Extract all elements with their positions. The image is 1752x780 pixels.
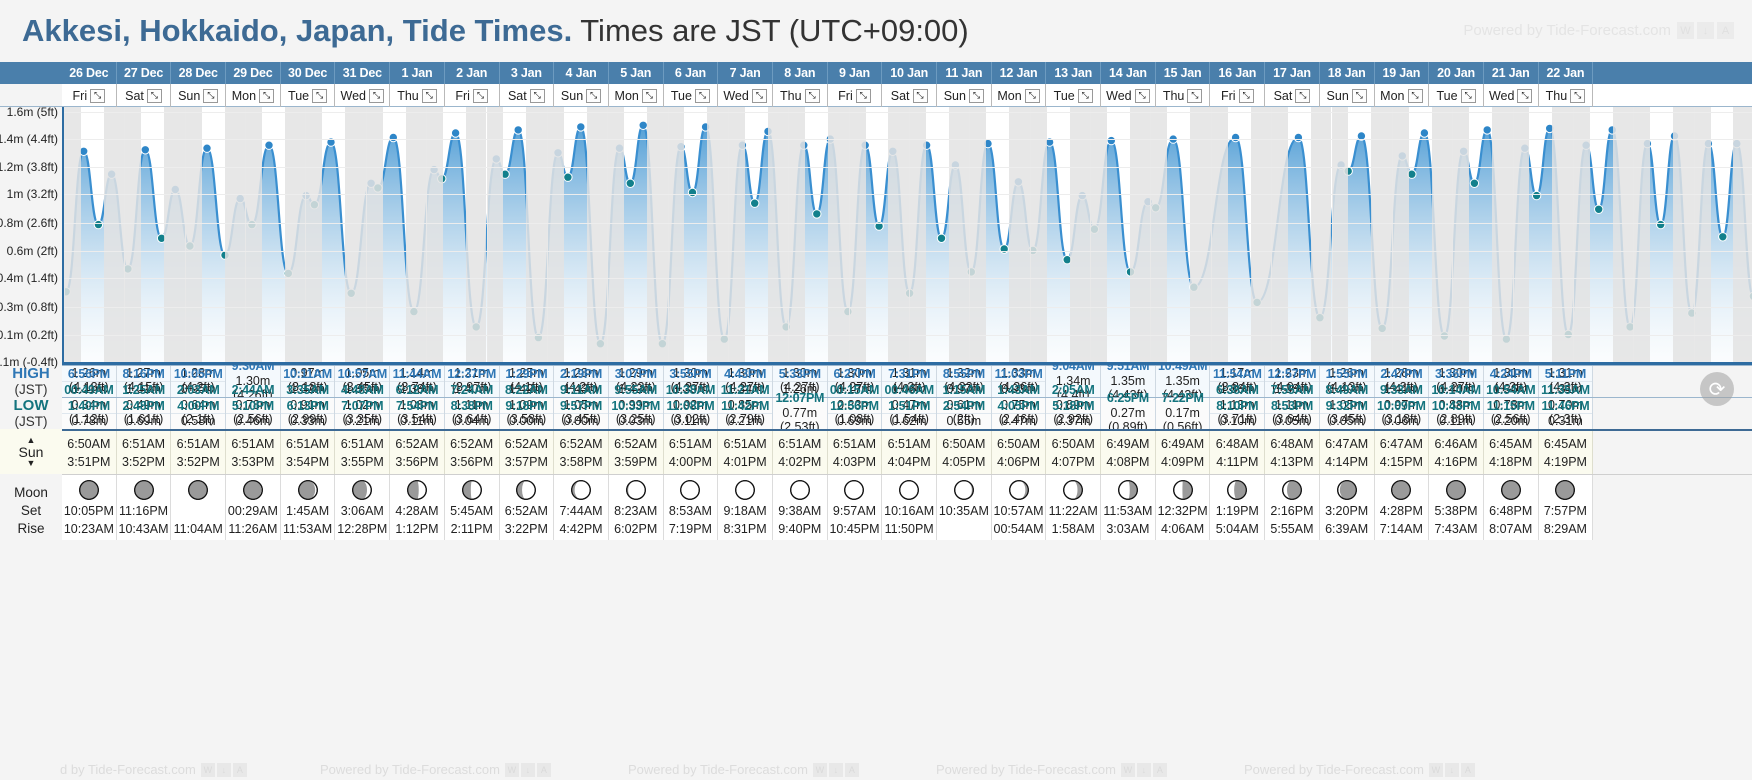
footer-badges: W↓A — [1121, 763, 1167, 777]
expand-day-icon[interactable]: ⤡ — [369, 89, 384, 103]
sun-row: ▲ Sun ▼ 6:50AM3:51PM6:51AM3:52PM6:51AM3:… — [0, 429, 1752, 474]
y-axis-tick-label: 0.8m (2.6ft) — [0, 216, 58, 230]
moonrise-time: 7:19PM — [664, 520, 718, 538]
date-header-cell: 6 Jan — [664, 62, 719, 84]
moon-phase-icon — [1484, 478, 1538, 502]
night-shading — [1673, 107, 1694, 362]
tide-height-m: 0.78m — [62, 414, 116, 429]
low-tide-cell: 7:24AM1.11m(3.64ft)8:38PM0.04m(0.13ft) — [445, 398, 500, 429]
date-header-cell: 1 Jan — [390, 62, 445, 84]
high-tide-point[interactable] — [1294, 133, 1302, 141]
footer-badges: W↓A — [1429, 763, 1475, 777]
tide-chart: 1.6m (5ft)1.4m (4.4ft)1.2m (3.8ft)1m (3.… — [0, 107, 1752, 365]
low-tide-point[interactable] — [813, 210, 821, 218]
high-tide-point[interactable] — [1107, 136, 1115, 144]
moonset-time: 4:28PM — [1375, 502, 1429, 520]
date-header-corner — [0, 62, 62, 84]
expand-day-icon[interactable]: ⤡ — [1352, 89, 1367, 103]
footer-badge-icon: A — [233, 763, 247, 777]
weekday-header-cell[interactable]: Thu⤡ — [1539, 84, 1594, 107]
low-tide-label-sub: (JST) — [15, 414, 48, 429]
tide-time: 11:35AM — [1539, 383, 1593, 398]
footer-badge-icon: ↓ — [1137, 763, 1151, 777]
tide-time: 2:05AM — [1046, 383, 1100, 398]
chart-vertical-gridline — [124, 107, 125, 362]
low-tide-point[interactable] — [94, 220, 102, 228]
expand-day-icon[interactable]: ⤡ — [752, 89, 767, 103]
expand-day-icon[interactable]: ⤡ — [642, 89, 657, 103]
sunset-time: 3:51PM — [62, 453, 116, 471]
weekday-label: Sun — [944, 89, 966, 103]
expand-day-icon[interactable]: ⤡ — [586, 89, 601, 103]
tide-height-m: 0.58m — [171, 414, 225, 429]
sunset-time: 4:01PM — [718, 453, 772, 471]
chart-vertical-gridline — [1452, 107, 1453, 362]
night-shading — [1271, 107, 1288, 362]
weekday-header-cell[interactable]: Sun⤡ — [937, 84, 992, 107]
chart-vertical-gridline — [366, 107, 367, 362]
low-tide-point[interactable] — [937, 234, 945, 242]
tide-time: 1:40PM — [62, 399, 116, 414]
moon-cell: 11:22AM1:58AM — [1046, 475, 1101, 540]
tide-time: 7:54PM — [390, 399, 444, 414]
moonrise-time: 10:45PM — [828, 520, 882, 538]
low-tide-cell: 7:22PM0.17m(0.56ft) — [1156, 398, 1211, 429]
weekday-header-cell[interactable]: Fri⤡ — [62, 84, 117, 107]
sunset-time: 4:00PM — [664, 453, 718, 471]
low-tide-cell: 11:21AM0.85m(2.79ft)11:42PM0.21m(0.69ft) — [718, 398, 773, 429]
moonset-time: 10:57AM — [992, 502, 1046, 520]
sunset-time: 4:16PM — [1429, 453, 1483, 471]
footer-watermark-text: d by Tide-Forecast.com — [60, 762, 196, 777]
sunset-time: 3:54PM — [281, 453, 335, 471]
tide-time: 12:37PM — [445, 367, 499, 382]
tide-time: 4:43PM — [718, 367, 772, 382]
low-tide-cell: 12:07PM0.77m(2.53ft) — [773, 398, 828, 429]
moon-row: Moon Set Rise 10:05PM10:23AM11:16PM10:43… — [0, 474, 1752, 540]
weekday-header-row: Fri⤡Sat⤡Sun⤡Mon⤡Tue⤡Wed⤡Thu⤡Fri⤡Sat⤡Sun⤡… — [0, 84, 1752, 107]
moonrise-time: 5:04AM — [1210, 520, 1264, 538]
tide-time: 9:33AM — [1375, 383, 1429, 398]
chart-vertical-gridline — [728, 107, 729, 362]
weekday-header-cell[interactable]: Thu⤡ — [390, 84, 445, 107]
high-tide-point[interactable] — [451, 129, 459, 137]
tide-time: 6:12AM — [390, 383, 444, 398]
low-tide-cell: 2:44AM0.78m(2.56ft)5:10PM0.46m(1.52ft) — [226, 398, 281, 429]
chart-vertical-gridline — [305, 107, 306, 362]
weekday-label: Wed — [341, 89, 366, 103]
chart-plot-area[interactable] — [62, 107, 1752, 365]
weekday-header-cell[interactable]: Fri⤡ — [828, 84, 883, 107]
chart-vertical-gridline — [185, 107, 186, 362]
tide-time: 8:53PM — [1265, 399, 1319, 414]
chart-horizontal-gridline — [64, 278, 1752, 279]
chart-vertical-gridline — [1513, 107, 1514, 362]
low-tide-point[interactable] — [626, 179, 634, 187]
weekday-label: Sat — [508, 89, 527, 103]
sun-cell: 6:50AM4:05PM — [937, 431, 992, 474]
moonrise-time: 1:58AM — [1046, 520, 1100, 538]
tide-time: 9:32PM — [1320, 399, 1374, 414]
night-shading — [1332, 107, 1349, 362]
tide-time: 9:57PM — [554, 399, 608, 414]
expand-day-icon[interactable]: ⤡ — [259, 89, 274, 103]
tide-time: 2:48PM — [117, 399, 171, 414]
weekday-header-cell[interactable]: Mon⤡ — [1375, 84, 1430, 107]
moon-phase-icon — [992, 478, 1046, 502]
weekday-header-cell[interactable]: Tue⤡ — [1046, 84, 1101, 107]
tide-time: 2:44AM — [226, 383, 280, 398]
moon-phase-icon — [390, 478, 444, 502]
expand-day-icon[interactable]: ⤡ — [312, 89, 327, 103]
high-tide-point[interactable] — [1231, 133, 1239, 141]
sunset-time: 4:05PM — [937, 453, 991, 471]
expand-day-icon[interactable]: ⤡ — [147, 89, 162, 103]
moon-phase-icon — [882, 478, 936, 502]
moonset-label: Set — [21, 502, 41, 520]
low-tide-cell: 00:46AM0.47m(1.54ft)1:51PM0.62m(2.03ft) — [882, 398, 937, 429]
tide-time: 12:56PM — [828, 399, 882, 414]
tide-time: 7:22PM — [1156, 391, 1210, 406]
weekday-header-cell[interactable]: Wed⤡ — [1484, 84, 1539, 107]
sunrise-time: 6:51AM — [335, 435, 389, 453]
sunrise-time: 6:45AM — [1539, 435, 1593, 453]
weekday-label: Thu — [1163, 89, 1185, 103]
weekday-label: Tue — [671, 89, 692, 103]
weekday-header-cell[interactable]: Sun⤡ — [1320, 84, 1375, 107]
tide-height-m: 0.00m — [500, 414, 554, 429]
weekday-header-cell[interactable]: Sun⤡ — [554, 84, 609, 107]
sunrise-time: 6:45AM — [1484, 435, 1538, 453]
tide-entry: 10:43PM0.11m(0.36ft) — [1429, 413, 1483, 429]
moonrise-time: 3:03AM — [1101, 520, 1155, 538]
tide-time: 6:38AM — [1210, 383, 1264, 398]
weekday-label: Fri — [838, 89, 853, 103]
tide-height-m: 1.35m — [1156, 374, 1210, 389]
moon-phase-icon — [828, 478, 882, 502]
moon-cell: 9:38AM9:40PM — [773, 475, 828, 540]
sunrise-time: 6:51AM — [171, 435, 225, 453]
tide-time: 1:25AM — [117, 383, 171, 398]
high-tide-point[interactable] — [389, 133, 397, 141]
night-shading — [949, 107, 970, 362]
moon-cell: 6:52AM3:22PM — [500, 475, 555, 540]
y-axis-tick-label: 1.4m (4.4ft) — [0, 132, 58, 146]
moon-cell: 1:19PM5:04AM — [1210, 475, 1265, 540]
expand-day-icon[interactable]: ⤡ — [805, 89, 820, 103]
tide-time: 10:14AM — [1429, 383, 1483, 398]
sunset-time: 4:06PM — [992, 453, 1046, 471]
expand-day-icon[interactable]: ⤡ — [90, 89, 105, 103]
tide-height-m: 0.46m — [226, 414, 280, 429]
low-tide-point[interactable] — [1657, 220, 1665, 228]
weekday-label: Mon — [997, 89, 1021, 103]
weekday-header-cell[interactable]: Thu⤡ — [773, 84, 828, 107]
moonset-time: 12:32PM — [1156, 502, 1210, 520]
tide-entry: 7:07PM0.21m(0.69ft) — [335, 413, 389, 429]
tide-height-m: 0.21m — [335, 414, 389, 429]
high-tide-point[interactable] — [1420, 129, 1428, 137]
sun-cell: 6:52AM3:57PM — [500, 431, 555, 474]
low-tide-cell: 00:15AM0.33m(1.08ft)12:56PM0.69m(2.26ft) — [828, 398, 883, 429]
night-shading — [1090, 107, 1107, 362]
weekday-header-cell[interactable]: Wed⤡ — [718, 84, 773, 107]
moon-phase-icon — [1320, 478, 1374, 502]
expand-day-icon[interactable]: ⤡ — [422, 89, 437, 103]
sun-cell: 6:51AM4:03PM — [828, 431, 883, 474]
moonset-time: 5:45AM — [445, 502, 499, 520]
high-tide-label: HIGH (JST) — [0, 365, 62, 397]
weekday-header-cell[interactable]: Sat⤡ — [500, 84, 555, 107]
low-tide-point[interactable] — [751, 199, 759, 207]
sunrise-time: 6:46AM — [1429, 435, 1483, 453]
tide-entry: 7:54PM0.11m(0.36ft) — [390, 413, 444, 429]
tide-entry: 7:22PM0.17m(0.56ft) — [1156, 398, 1210, 429]
expand-day-icon[interactable]: ⤡ — [1135, 89, 1150, 103]
moon-phase-icon — [1539, 478, 1593, 502]
weekday-header-corner — [0, 84, 62, 106]
moon-phase-icon — [1156, 478, 1210, 502]
expand-day-icon[interactable]: ⤡ — [1570, 89, 1585, 103]
tide-time: 00:46AM — [882, 383, 936, 398]
tide-time: 3:55PM — [664, 367, 718, 382]
low-tide-point[interactable] — [1408, 170, 1416, 178]
date-header-cell: 7 Jan — [718, 62, 773, 84]
high-tide-point[interactable] — [514, 126, 522, 134]
moonset-time: 1:19PM — [1210, 502, 1264, 520]
weekday-label: Mon — [615, 89, 639, 103]
date-header-cell: 27 Dec — [117, 62, 172, 84]
expand-day-icon[interactable]: ⤡ — [530, 89, 545, 103]
tide-entry: 12:07PM0.77m(2.53ft) — [773, 398, 827, 429]
moon-cell: 10:35AM — [937, 475, 992, 540]
chart-vertical-gridline — [245, 107, 246, 362]
night-shading — [285, 107, 306, 362]
moonrise-time: 3:22PM — [500, 520, 554, 538]
expand-day-icon[interactable]: ⤡ — [695, 89, 710, 103]
date-header-cell: 12 Jan — [992, 62, 1047, 84]
night-shading — [1392, 107, 1409, 362]
moonrise-time: 2:11PM — [445, 520, 499, 538]
chart-horizontal-gridline — [64, 251, 1752, 252]
expand-day-icon[interactable]: ⤡ — [1295, 89, 1310, 103]
weekday-header-cell[interactable]: Sat⤡ — [1265, 84, 1320, 107]
high-tide-point[interactable] — [577, 123, 585, 131]
sunrise-time: 6:50AM — [992, 435, 1046, 453]
tide-time: 6:25PM — [1101, 391, 1155, 406]
moon-cell: 11:53AM3:03AM — [1101, 475, 1156, 540]
expand-day-icon[interactable]: ⤡ — [1408, 89, 1423, 103]
chart-vertical-gridline — [1392, 107, 1393, 362]
night-shading — [647, 107, 668, 362]
sunset-time: 4:13PM — [1265, 453, 1319, 471]
moon-cells: 10:05PM10:23AM11:16PM10:43AM 11:04AM00:2… — [62, 474, 1752, 540]
weekday-label: Sun — [178, 89, 200, 103]
moon-phase-icon — [281, 478, 335, 502]
moon-cell: 8:53AM7:19PM — [664, 475, 719, 540]
expand-day-icon[interactable]: ⤡ — [1187, 89, 1202, 103]
moonrise-time: 10:43AM — [117, 520, 171, 538]
low-tide-cell: 1:25AM0.49m(1.61ft)2:48PM0.69m(2.26ft) — [117, 398, 172, 429]
high-tide-point[interactable] — [203, 144, 211, 152]
weekday-label: Sat — [891, 89, 910, 103]
sun-cell: 6:50AM4:07PM — [1046, 431, 1101, 474]
tide-height-m: 0.62m — [882, 414, 936, 429]
moon-cell: 5:45AM2:11PM — [445, 475, 500, 540]
night-shading — [466, 107, 487, 362]
low-tide-label-main: LOW — [14, 397, 49, 414]
chart-vertical-gridline — [1694, 107, 1695, 362]
sunrise-time: 6:52AM — [390, 435, 444, 453]
weekday-header-cell[interactable]: Thu⤡ — [1156, 84, 1211, 107]
low-tide-point[interactable] — [1719, 233, 1727, 241]
moon-cell: 6:48PM8:07AM — [1484, 475, 1539, 540]
weekday-label: Tue — [1436, 89, 1457, 103]
night-shading — [245, 107, 262, 362]
weekday-header-cell[interactable]: Tue⤡ — [664, 84, 719, 107]
weekday-header-cell[interactable]: Fri⤡ — [445, 84, 500, 107]
moonrise-time: 8:29AM — [1539, 520, 1593, 538]
moon-phase-icon — [718, 478, 772, 502]
expand-day-icon[interactable]: ⤡ — [1239, 89, 1254, 103]
weekday-header-cell[interactable]: Sat⤡ — [882, 84, 937, 107]
sunrise-time: 6:50AM — [937, 435, 991, 453]
moonrise-time: 10:23AM — [62, 520, 116, 538]
high-tide-point[interactable] — [265, 141, 273, 149]
sun-cell: 6:51AM3:52PM — [117, 431, 172, 474]
footer-watermark: Powered by Tide-Forecast.comW↓A — [320, 762, 551, 777]
moonrise-time: 12:28PM — [335, 520, 389, 538]
weekday-label: Thu — [780, 89, 802, 103]
low-tide-cell: 6:38AM1.13m(3.71ft)8:10PM0.10m(0.33ft) — [1210, 398, 1265, 429]
moon-phase-icon — [554, 478, 608, 502]
low-tide-point[interactable] — [688, 188, 696, 196]
low-tide-point[interactable] — [1532, 191, 1540, 199]
low-tide-point[interactable] — [1000, 245, 1008, 253]
low-tide-cell: 11:35AM0.70m(2.3ft)11:46PM0.31m(1.02ft) — [1539, 398, 1594, 429]
expand-day-icon[interactable]: ⤡ — [1461, 89, 1476, 103]
expand-day-icon[interactable]: ⤡ — [969, 89, 984, 103]
footer-watermark-text: Powered by Tide-Forecast.com — [628, 762, 808, 777]
weekday-header-cell[interactable]: Mon⤡ — [226, 84, 281, 107]
expand-day-icon[interactable]: ⤡ — [1078, 89, 1093, 103]
sun-cell: 6:52AM3:59PM — [609, 431, 664, 474]
night-shading — [1573, 107, 1590, 362]
low-tide-label: LOW (JST) — [0, 397, 62, 429]
tide-entry: 10:09PM0.06m(0.2ft) — [1375, 413, 1429, 429]
low-tide-cell: 8:22AM1.09m(3.58ft)9:18PM0.00m(0ft) — [500, 398, 555, 429]
sun-cell: 6:52AM3:58PM — [554, 431, 609, 474]
moon-cell: 4:28PM7:14AM — [1375, 475, 1430, 540]
expand-day-icon[interactable]: ⤡ — [473, 89, 488, 103]
chart-vertical-gridline — [1332, 107, 1333, 362]
low-tide-point[interactable] — [1470, 179, 1478, 187]
sunrise-time: 6:51AM — [117, 435, 171, 453]
moon-phase-icon — [609, 478, 663, 502]
moonset-time: 3:20PM — [1320, 502, 1374, 520]
sunset-time: 3:52PM — [117, 453, 171, 471]
weekday-label: Thu — [1546, 89, 1568, 103]
low-tide-point[interactable] — [564, 173, 572, 181]
weekday-header-cell[interactable]: Sun⤡ — [171, 84, 226, 107]
expand-day-icon[interactable]: ⤡ — [856, 89, 871, 103]
date-header-cell: 2 Jan — [445, 62, 500, 84]
night-shading — [969, 107, 986, 362]
high-tide-point[interactable] — [141, 146, 149, 154]
date-header-cell: 28 Dec — [171, 62, 226, 84]
night-shading — [1733, 107, 1752, 362]
sunrise-time: 6:52AM — [554, 435, 608, 453]
moonset-time: 8:23AM — [609, 502, 663, 520]
sunset-time: 4:03PM — [828, 453, 882, 471]
tide-entry: 6:25PM0.27m(0.89ft) — [1101, 398, 1155, 429]
high-tide-label-sub: (JST) — [15, 382, 48, 397]
sun-cell: 6:51AM3:55PM — [335, 431, 390, 474]
sunset-time: 3:52PM — [171, 453, 225, 471]
page-title-timezone: Times are JST (UTC+09:00) — [580, 13, 968, 48]
tide-entry: 9:57PM0.00m(0ft) — [554, 413, 608, 429]
footer-watermark: Powered by Tide-Forecast.comW↓A — [1244, 762, 1475, 777]
moonset-time: 00:29AM — [226, 502, 280, 520]
expand-day-icon[interactable]: ⤡ — [1025, 89, 1040, 103]
powered-by-text: Powered by Tide-Forecast.com — [1463, 22, 1671, 39]
expand-day-icon[interactable]: ⤡ — [203, 89, 218, 103]
night-shading — [426, 107, 443, 362]
moon-row-label: Moon Set Rise — [0, 474, 62, 540]
tide-time: 3:35AM — [281, 383, 335, 398]
footer-badge-icon: W — [201, 763, 215, 777]
night-shading — [64, 107, 81, 362]
low-tide-cell: 1:43AM0.75m(2.46ft)4:05PM0.47m(1.54ft) — [992, 398, 1047, 429]
night-shading — [888, 107, 909, 362]
moonset-time: 9:57AM — [828, 502, 882, 520]
night-shading — [1513, 107, 1530, 362]
weekday-label: Fri — [1221, 89, 1236, 103]
night-shading — [1211, 107, 1228, 362]
low-tide-cell: 10:38AM0.92m(3.02ft)11:08PM0.11m(0.36ft) — [664, 398, 719, 429]
weekday-header-cell[interactable]: Mon⤡ — [992, 84, 1047, 107]
low-tide-point[interactable] — [1595, 205, 1603, 213]
moonrise-label: Rise — [17, 520, 44, 538]
tide-time: 6:27PM — [828, 367, 882, 382]
night-shading — [1251, 107, 1272, 362]
weekday-header-cell[interactable]: Mon⤡ — [609, 84, 664, 107]
night-shading — [1070, 107, 1091, 362]
moon-phase-icon — [773, 478, 827, 502]
weekday-header-cell[interactable]: Wed⤡ — [335, 84, 390, 107]
weekday-header-cell[interactable]: Wed⤡ — [1101, 84, 1156, 107]
night-shading — [849, 107, 866, 362]
moon-phase-icon — [62, 478, 116, 502]
weekday-header-cell[interactable]: Tue⤡ — [1429, 84, 1484, 107]
weekday-header-cell[interactable]: Tue⤡ — [281, 84, 336, 107]
high-tide-point[interactable] — [1483, 126, 1491, 134]
sun-cell: 6:48AM4:11PM — [1210, 431, 1265, 474]
sunset-time: 4:04PM — [882, 453, 936, 471]
chart-vertical-gridline — [969, 107, 970, 362]
weekday-header-cell[interactable]: Fri⤡ — [1210, 84, 1265, 107]
tide-time: 10:43PM — [1429, 399, 1483, 414]
tide-time: 5:11PM — [1539, 367, 1593, 382]
moonrise-time — [937, 520, 991, 538]
expand-day-icon[interactable]: ⤡ — [1517, 89, 1532, 103]
night-shading — [788, 107, 805, 362]
expand-day-icon[interactable]: ⤡ — [913, 89, 928, 103]
footer-badge-icon: A — [537, 763, 551, 777]
weekday-header-cell[interactable]: Sat⤡ — [117, 84, 172, 107]
night-shading — [1633, 107, 1650, 362]
moon-cell: 7:44AM4:42PM — [554, 475, 609, 540]
